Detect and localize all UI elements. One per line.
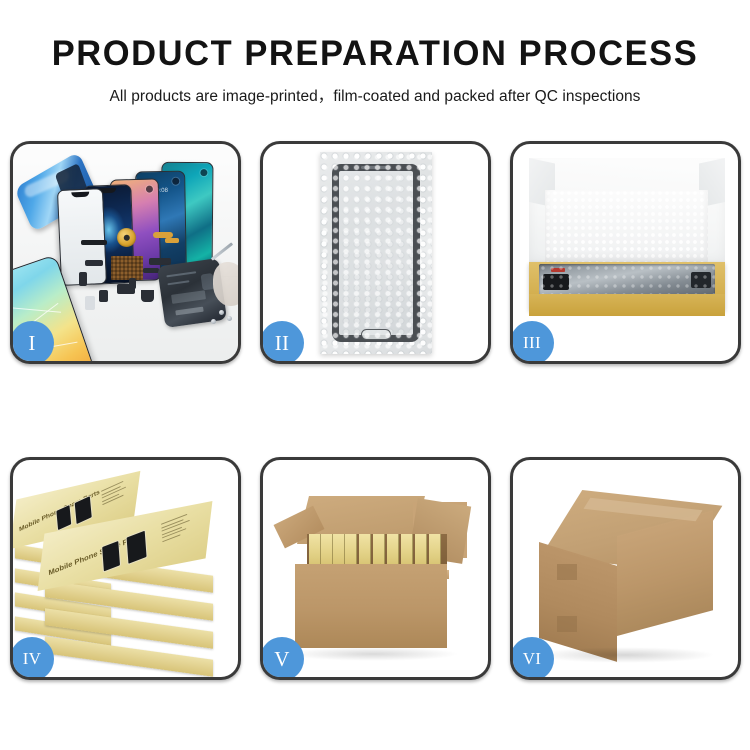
part-ribbon-icon (143, 268, 159, 273)
box-phone-thumb (101, 540, 121, 573)
red-label-icon (551, 268, 565, 272)
process-step-grid: 09:08 (10, 141, 741, 680)
foam-padding-icon (545, 190, 708, 262)
carton-seam (557, 616, 577, 632)
part-connector-icon (85, 260, 103, 266)
screw-icon (211, 319, 216, 324)
part-coil-icon (117, 228, 136, 247)
part-sim-tray-icon (129, 278, 136, 289)
page-subtitle: All products are image-printed，film-coat… (0, 73, 750, 106)
process-step-card-5[interactable]: V (260, 457, 491, 680)
bubble-texture-overlay (320, 152, 432, 354)
part-bracket-icon (79, 272, 87, 286)
part-camera-module-icon (141, 290, 154, 302)
step-badge-5: V (260, 637, 304, 680)
box-phone-thumb (126, 529, 148, 565)
drop-shadow (287, 647, 459, 661)
carton-seam (557, 564, 577, 580)
connector-icon (691, 272, 711, 288)
drop-shadow (535, 647, 715, 663)
screw-icon (219, 310, 224, 315)
step-badge-6: VI (510, 637, 554, 680)
black-component-icon (543, 274, 569, 290)
kraft-box-front-icon (529, 294, 725, 316)
step-badge-3: III (510, 321, 554, 364)
process-step-card-1[interactable]: 09:08 (10, 141, 241, 364)
process-step-card-3[interactable]: III (510, 141, 741, 364)
part-circuit-board-icon (111, 256, 143, 280)
part-ribbon-icon (149, 258, 171, 265)
screw-icon (227, 316, 232, 321)
part-flex-cable-icon (165, 238, 179, 243)
box-spec-lines (161, 513, 191, 545)
bubble-wrap-sheet (320, 152, 432, 354)
process-step-card-2[interactable]: II (260, 141, 491, 364)
part-sensor-icon (85, 296, 95, 310)
step-badge-2: II (260, 321, 304, 364)
process-step-card-4[interactable]: Mobile Phone Spare Parts Mobile Phone Sp… (10, 457, 241, 680)
box-spec-lines (101, 480, 127, 508)
page-header: PRODUCT PREPARATION PROCESS All products… (0, 0, 750, 106)
part-button-icon (99, 290, 108, 302)
process-step-card-6[interactable]: VI (510, 457, 741, 680)
part-strip-icon (81, 240, 107, 245)
page-title: PRODUCT PREPARATION PROCESS (6, 0, 745, 73)
carton-body (295, 564, 447, 648)
packed-product-icon (539, 264, 715, 296)
step-badge-4: IV (10, 637, 54, 680)
step-badge-1: I (10, 321, 54, 364)
